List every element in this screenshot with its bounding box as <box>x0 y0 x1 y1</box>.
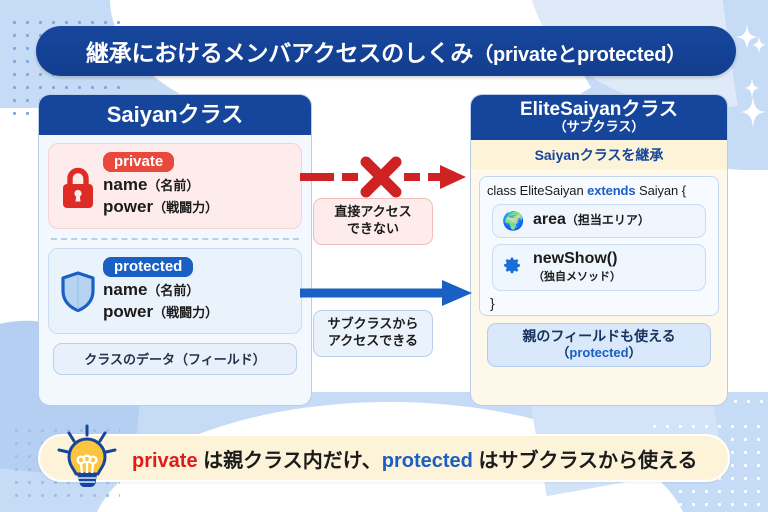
deny-access-arrow <box>300 155 466 199</box>
gear-icon <box>502 256 522 279</box>
summary-part4: はサブクラスから使える <box>473 450 698 472</box>
parent-class-panel: Saiyanクラス private name（名前） power（戦闘力） <box>38 94 312 406</box>
page-title-paren: （privateとprotected） <box>473 44 686 66</box>
member-name-jp: （戦闘力） <box>153 305 218 320</box>
child-class-subtitle: （サブクラス） <box>471 120 727 135</box>
summary-banner: private は親クラス内だけ、protected はサブクラスから使える <box>38 434 730 482</box>
member-name-jp: （戦闘力） <box>153 200 218 215</box>
protected-member-group: protected name（名前） power（戦闘力） <box>48 248 302 334</box>
protected-keyword: protected <box>569 345 628 360</box>
code-declaration-line: class EliteSaiyan extends Saiyan { <box>487 183 711 198</box>
code-item-main: newShow() <box>533 250 699 268</box>
child-class-panel: EliteSaiyanクラス （サブクラス） Saiyanクラスを継承 clas… <box>470 94 728 406</box>
code-item-newshow: newShow() （独自メソッド） <box>492 244 706 291</box>
code-block: class EliteSaiyan extends Saiyan { 🌍 are… <box>479 176 719 316</box>
child-panel-footer: 親のフィールドも使える （protected） <box>487 323 711 367</box>
member-name: name <box>103 280 147 299</box>
member-name-jp: （名前） <box>147 178 199 193</box>
globe-icon: 🌍 <box>502 212 524 230</box>
member-name: name <box>103 175 147 194</box>
sparkle-icon <box>740 96 766 128</box>
code-prefix: class EliteSaiyan <box>487 183 587 198</box>
child-class-header: EliteSaiyanクラス （サブクラス） <box>471 95 727 140</box>
page-title: 継承におけるメンバアクセスのしくみ（privateとprotected） <box>86 34 686 68</box>
lightbulb-icon <box>54 420 120 494</box>
page-title-main: 継承におけるメンバアクセスのしくみ <box>86 40 473 66</box>
sparkle-icon <box>752 36 766 54</box>
summary-part2: は親クラス内だけ、 <box>198 450 382 472</box>
sparkle-icon <box>744 78 760 98</box>
code-item-main: area（担当エリア） <box>533 211 699 229</box>
allow-label-line1: サブクラスから <box>323 316 423 333</box>
child-footer-line1: 親のフィールドも使える <box>492 328 706 345</box>
private-member-line: name（名前） <box>103 174 293 196</box>
parent-class-header: Saiyanクラス <box>39 95 311 135</box>
child-class-title: EliteSaiyanクラス <box>471 99 727 120</box>
child-footer-line2: （protected） <box>492 345 706 361</box>
code-keyword-extends: extends <box>587 183 635 198</box>
summary-protected-keyword: protected <box>382 450 473 472</box>
summary-private-keyword: private <box>132 450 198 472</box>
protected-tag: protected <box>103 257 193 277</box>
allow-label-line2: アクセスできる <box>323 333 423 350</box>
deny-label-line2: できない <box>323 221 423 238</box>
allow-access-label: サブクラスから アクセスできる <box>313 310 433 357</box>
code-item-name: area <box>533 211 566 228</box>
deny-access-label: 直接アクセス できない <box>313 198 433 245</box>
page-title-bar: 継承におけるメンバアクセスのしくみ（privateとprotected） <box>36 26 736 76</box>
member-name: power <box>103 197 153 216</box>
private-member-line: power（戦闘力） <box>103 196 293 218</box>
code-closing-brace: } <box>490 295 711 311</box>
paren-open: （ <box>556 345 569 360</box>
code-item-sub: （独自メソッド） <box>533 268 699 284</box>
summary-text: private は親クラス内だけ、protected はサブクラスから使える <box>132 444 697 473</box>
inherit-band: Saiyanクラスを継承 <box>471 140 727 169</box>
private-member-group: private name（名前） power（戦闘力） <box>48 143 302 229</box>
member-name-jp: （名前） <box>147 283 199 298</box>
cross-mark <box>366 162 396 192</box>
protected-member-line: power（戦闘力） <box>103 301 293 323</box>
group-divider <box>51 238 299 240</box>
shield-icon <box>57 266 99 318</box>
allow-access-arrow <box>300 278 472 308</box>
code-suffix: Saiyan { <box>636 183 686 198</box>
infographic-canvas: 継承におけるメンバアクセスのしくみ（privateとprotected） Sai… <box>0 0 768 512</box>
paren-close: ） <box>629 345 642 360</box>
member-name: power <box>103 302 153 321</box>
padlock-icon <box>57 161 99 213</box>
private-tag: private <box>103 152 174 172</box>
protected-member-line: name（名前） <box>103 279 293 301</box>
code-item-area: 🌍 area（担当エリア） <box>492 204 706 238</box>
deny-label-line1: 直接アクセス <box>323 204 423 221</box>
parent-panel-footer-chip: クラスのデータ（フィールド） <box>53 343 297 375</box>
code-item-name-jp: （担当エリア） <box>566 213 650 227</box>
